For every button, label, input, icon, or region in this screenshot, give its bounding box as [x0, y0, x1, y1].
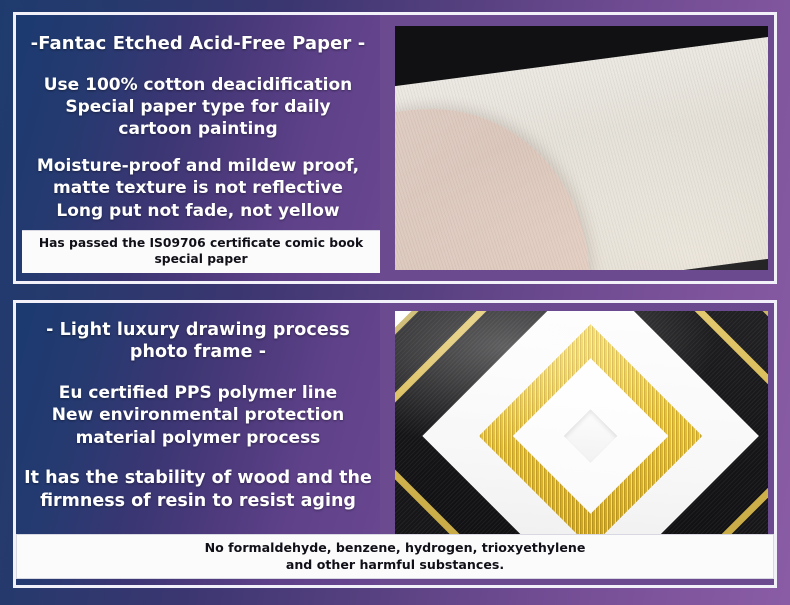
paper-certification-caption: Has passed the IS09706 certificate comic… — [22, 230, 380, 273]
frame-paragraph-1: Eu certified PPS polymer line New enviro… — [52, 382, 344, 449]
frame-headline: - Light luxury drawing process photo fra… — [46, 320, 350, 364]
black-gold-photo-frame-corner-photo — [395, 311, 768, 551]
paper-paragraph-2: Moisture-proof and mildew proof, matte t… — [37, 155, 359, 222]
paper-headline: -Fantac Etched Acid-Free Paper - — [31, 33, 366, 56]
frame-corner-illustration — [395, 311, 768, 551]
frame-safety-caption: No formaldehyde, benzene, hydrogen, trio… — [16, 534, 774, 579]
feature-panel-frame: - Light luxury drawing process photo fra… — [13, 300, 777, 588]
feature-panel-paper: -Fantac Etched Acid-Free Paper - Use 100… — [13, 12, 777, 284]
frame-paragraph-2: It has the stability of wood and the fir… — [24, 467, 372, 513]
curled-paper-sheet-photo — [395, 26, 768, 270]
paper-photo-column — [380, 15, 774, 281]
product-feature-banner: -Fantac Etched Acid-Free Paper - Use 100… — [0, 0, 790, 605]
paper-text-column: -Fantac Etched Acid-Free Paper - Use 100… — [16, 15, 380, 281]
paper-paragraph-1: Use 100% cotton deacidification Special … — [44, 74, 352, 141]
